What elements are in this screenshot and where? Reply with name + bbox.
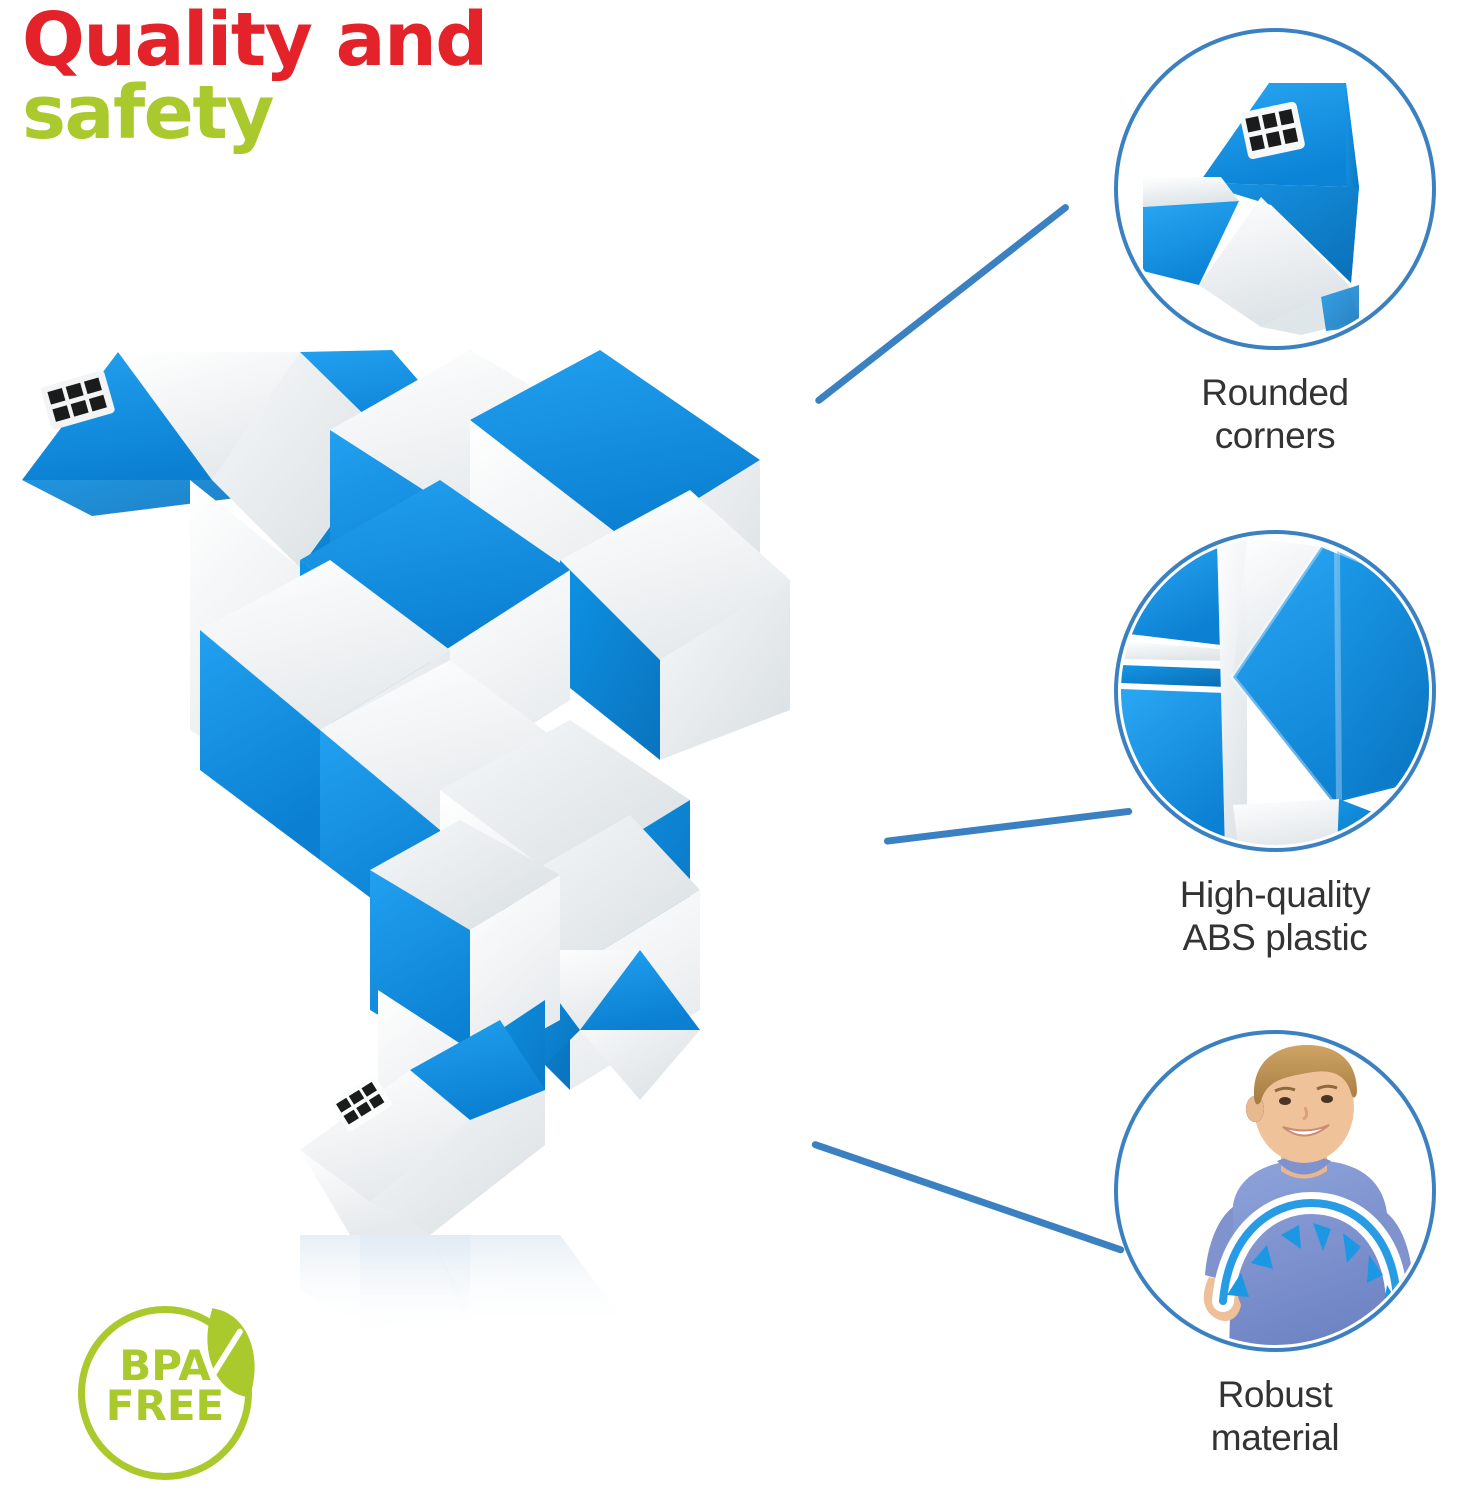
bpa-free-badge: BPA FREE bbox=[72, 1300, 272, 1496]
callout-circle-rounded-corners bbox=[1114, 28, 1436, 350]
badge-line-1: BPA bbox=[78, 1346, 252, 1386]
page-title: Quality and safety bbox=[22, 4, 642, 149]
infographic-canvas: Quality and safety bbox=[0, 0, 1483, 1500]
callout-label-rounded-corners: Rounded corners bbox=[1085, 372, 1465, 458]
callout-circle-robust-material bbox=[1114, 1030, 1436, 1352]
callout-label-line-1: Robust bbox=[1085, 1374, 1465, 1417]
connector-line-rounded-corners bbox=[814, 203, 1070, 406]
callout-label-robust-material: Robust material bbox=[1085, 1374, 1465, 1460]
connector-line-robust-material bbox=[811, 1140, 1125, 1254]
headline-line-2: safety bbox=[22, 77, 642, 150]
product-reflection bbox=[300, 1235, 620, 1335]
callout-label-line-2: corners bbox=[1085, 415, 1465, 458]
callout-image-abs-plastic bbox=[1121, 537, 1429, 845]
badge-text: BPA FREE bbox=[78, 1346, 252, 1427]
callout-label-line-2: material bbox=[1085, 1417, 1465, 1460]
callout-label-line-1: Rounded bbox=[1085, 372, 1465, 415]
callout-image-rounded-corners bbox=[1121, 35, 1429, 343]
callout-robust-material[interactable]: Robust material bbox=[1085, 1030, 1465, 1460]
product-image bbox=[0, 330, 830, 1340]
headline-line-1: Quality and bbox=[22, 4, 642, 77]
callout-label-line-2: ABS plastic bbox=[1085, 917, 1465, 960]
callout-rounded-corners[interactable]: Rounded corners bbox=[1085, 28, 1465, 458]
product-illustration bbox=[0, 330, 830, 1340]
badge-line-2: FREE bbox=[78, 1386, 252, 1426]
callout-label-line-1: High-quality bbox=[1085, 874, 1465, 917]
callout-image-robust-material bbox=[1121, 1037, 1429, 1345]
callout-circle-abs-plastic bbox=[1114, 530, 1436, 852]
callout-abs-plastic[interactable]: High-quality ABS plastic bbox=[1085, 530, 1465, 960]
callout-label-abs-plastic: High-quality ABS plastic bbox=[1085, 874, 1465, 960]
